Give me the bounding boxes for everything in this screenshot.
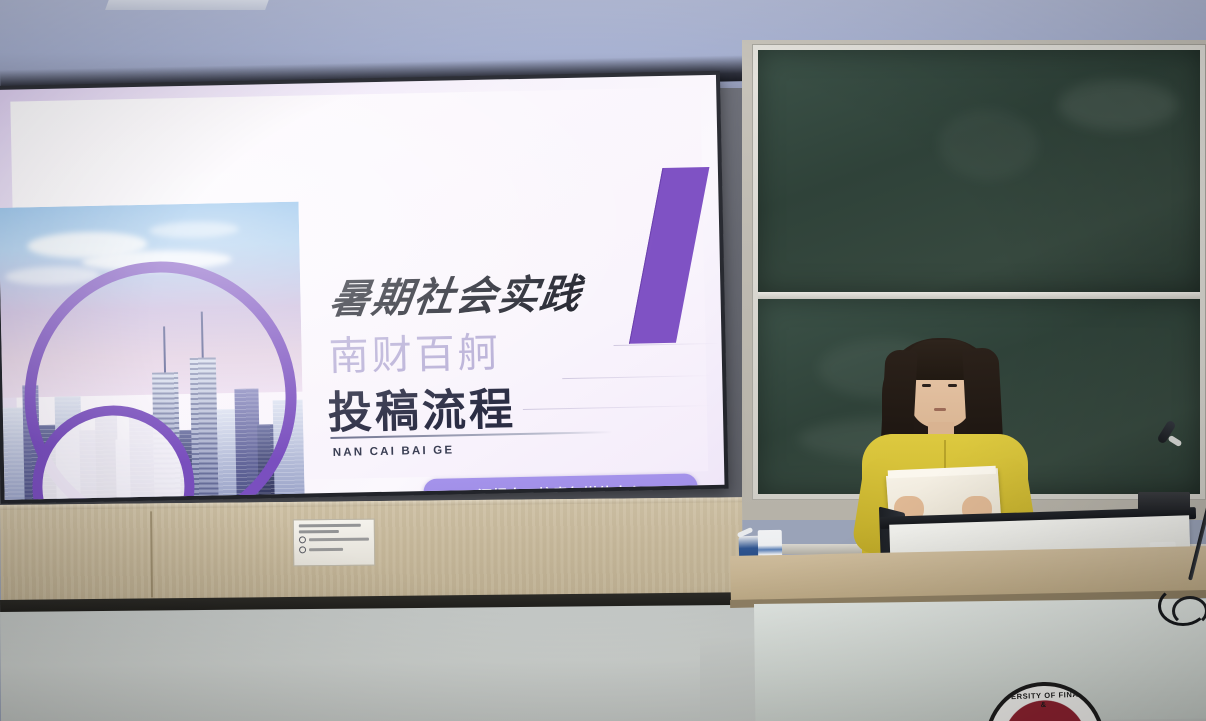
chalkboard-panel-top <box>758 50 1200 292</box>
slide-title-line-2: 南财百舸 <box>328 320 501 382</box>
notice-item <box>299 536 369 544</box>
chalk-smudge <box>938 110 1038 180</box>
presentation-slide: 暑期社会实践 南财百舸 投稿流程 NAN CAI BAI GE 汇报人：校青年媒… <box>0 75 725 500</box>
wall-connector-plate <box>1138 492 1190 510</box>
prohibition-icon <box>299 536 306 543</box>
classroom-scene: 暑期社会实践 南财百舸 投稿流程 NAN CAI BAI GE 汇报人：校青年媒… <box>0 0 1206 721</box>
eye-left <box>922 384 931 387</box>
cloud <box>149 221 239 239</box>
chalkboard-divider <box>758 292 1200 299</box>
floor <box>0 605 761 721</box>
slide-title-line-1: 暑期社会实践 <box>326 262 586 325</box>
ceiling-light <box>105 0 271 10</box>
eye-right <box>948 384 957 387</box>
university-seal-text: UNIVERSITY OF FINANCE & <box>987 689 1100 711</box>
prohibition-icon <box>299 546 306 553</box>
wall-notice-sign <box>293 519 375 567</box>
projection-screen[interactable]: 暑期社会实践 南财百舸 投稿流程 NAN CAI BAI GE 汇报人：校青年媒… <box>0 71 729 504</box>
slide-pinyin-subtitle: NAN CAI BAI GE <box>333 444 455 459</box>
notice-item <box>299 546 369 554</box>
slide-title-line-3: 投稿流程 <box>327 373 516 441</box>
notice-text-line <box>299 524 361 528</box>
chalk-smudge <box>1058 80 1178 130</box>
lectern-body <box>754 598 1206 721</box>
cable-coil <box>1172 596 1206 626</box>
mouth <box>934 408 946 411</box>
notice-text-line <box>299 530 339 533</box>
notice-item-text <box>309 538 369 542</box>
notice-item-text <box>309 548 343 551</box>
